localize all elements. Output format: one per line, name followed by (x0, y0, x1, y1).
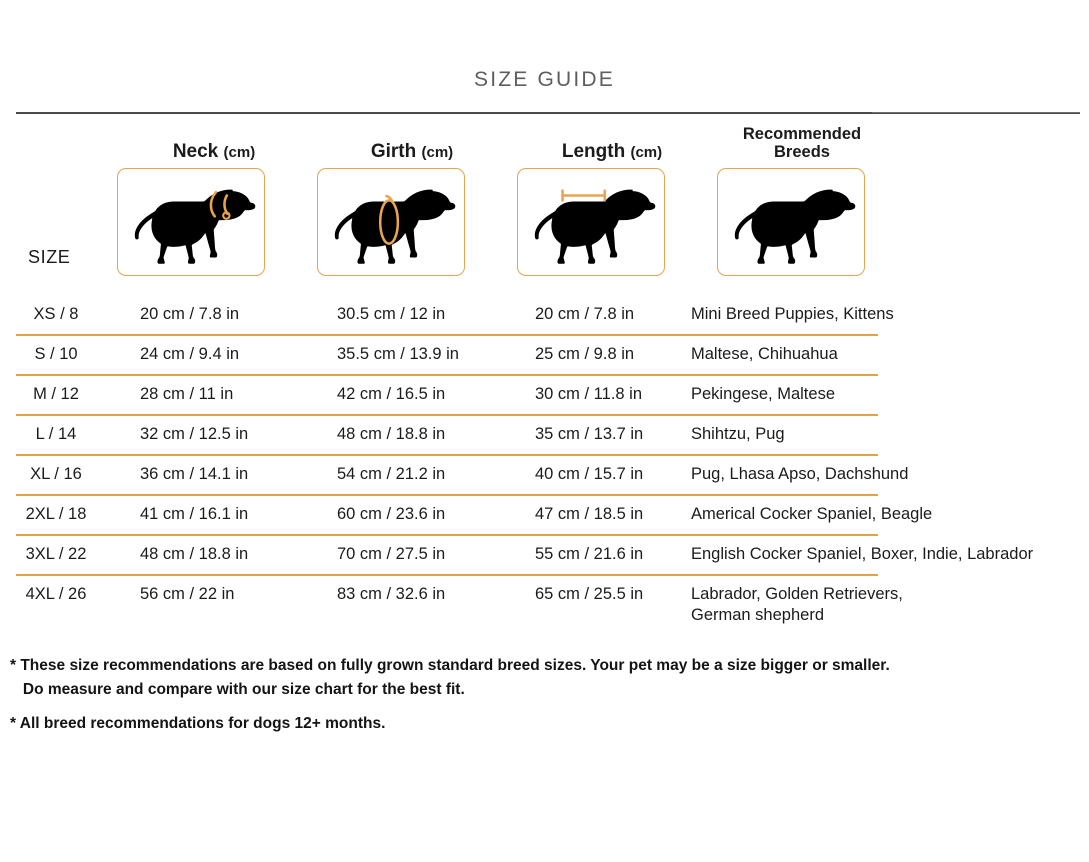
table-row: 4XL / 26 56 cm / 22 in 83 cm / 32.6 in 6… (0, 576, 1089, 616)
column-header-girth-unit: (cm) (422, 144, 454, 161)
illustration-box-girth (317, 168, 465, 276)
cell-length: 35 cm / 13.7 in (535, 424, 643, 445)
cell-size: L / 14 (0, 424, 112, 445)
cell-size: 4XL / 26 (0, 584, 112, 605)
table-row: M / 12 28 cm / 11 in 42 cm / 16.5 in 30 … (0, 376, 1089, 416)
table-row: XL / 16 36 cm / 14.1 in 54 cm / 21.2 in … (0, 456, 1089, 496)
cell-neck: 20 cm / 7.8 in (140, 304, 239, 325)
footnote-line-2: Do measure and compare with our size cha… (10, 678, 1010, 702)
cell-length: 65 cm / 25.5 in (535, 584, 643, 605)
column-header-neck-unit: (cm) (224, 144, 256, 161)
column-header-length: Length (cm) (538, 141, 686, 162)
column-header-breeds-line2: Breeds (722, 143, 882, 161)
cell-girth: 35.5 cm / 13.9 in (337, 344, 459, 365)
cell-girth: 60 cm / 23.6 in (337, 504, 445, 525)
column-header-length-unit: (cm) (630, 144, 662, 161)
cell-length: 55 cm / 21.6 in (535, 544, 643, 565)
cell-length: 30 cm / 11.8 in (535, 384, 642, 405)
dog-plain-illustration (718, 169, 864, 275)
column-header-girth: Girth (cm) (338, 141, 486, 162)
cell-neck: 56 cm / 22 in (140, 584, 234, 605)
column-header-recommended-breeds: Recommended Breeds (722, 125, 882, 162)
cell-neck: 32 cm / 12.5 in (140, 424, 248, 445)
cell-girth: 30.5 cm / 12 in (337, 304, 445, 325)
cell-breeds: Pug, Lhasa Apso, Dachshund (691, 464, 908, 485)
cell-neck: 28 cm / 11 in (140, 384, 233, 405)
cell-breeds: Maltese, Chihuahua (691, 344, 838, 365)
cell-girth: 42 cm / 16.5 in (337, 384, 445, 405)
length-measure-arrow-icon (563, 191, 605, 201)
column-header-neck: Neck (cm) (140, 141, 288, 162)
cell-size: S / 10 (0, 344, 112, 365)
column-header-length-name: Length (562, 141, 625, 162)
cell-breeds: Pekingese, Maltese (691, 384, 835, 405)
dog-silhouette-icon (535, 190, 655, 264)
cell-length: 25 cm / 9.8 in (535, 344, 634, 365)
table-row: XS / 8 20 cm / 7.8 in 30.5 cm / 12 in 20… (0, 296, 1089, 336)
cell-breeds: Labrador, Golden Retrievers, German shep… (691, 584, 903, 625)
table-row: 3XL / 22 48 cm / 18.8 in 70 cm / 27.5 in… (0, 536, 1089, 576)
cell-girth: 70 cm / 27.5 in (337, 544, 445, 565)
cell-neck: 41 cm / 16.1 in (140, 504, 248, 525)
footnote-line-3: * All breed recommendations for dogs 12+… (10, 712, 1010, 736)
cell-neck: 48 cm / 18.8 in (140, 544, 248, 565)
column-header-girth-name: Girth (371, 141, 416, 162)
cell-size: XS / 8 (0, 304, 112, 325)
cell-length: 47 cm / 18.5 in (535, 504, 643, 525)
cell-girth: 83 cm / 32.6 in (337, 584, 445, 605)
table-row: 2XL / 18 41 cm / 16.1 in 60 cm / 23.6 in… (0, 496, 1089, 536)
cell-length: 20 cm / 7.8 in (535, 304, 634, 325)
cell-breeds: Mini Breed Puppies, Kittens (691, 304, 894, 325)
dog-silhouette-icon (335, 190, 455, 264)
illustration-box-length (517, 168, 665, 276)
cell-breeds: Americal Cocker Spaniel, Beagle (691, 504, 932, 525)
size-table: XS / 8 20 cm / 7.8 in 30.5 cm / 12 in 20… (0, 296, 1089, 616)
dog-silhouette-icon (135, 190, 255, 264)
cell-neck: 24 cm / 9.4 in (140, 344, 239, 365)
illustration-box-neck (117, 168, 265, 276)
cell-neck: 36 cm / 14.1 in (140, 464, 248, 485)
cell-size: XL / 16 (0, 464, 112, 485)
cell-breeds: English Cocker Spaniel, Boxer, Indie, La… (691, 544, 1033, 565)
cell-size: M / 12 (0, 384, 112, 405)
illustration-box-breeds (717, 168, 865, 276)
dog-neck-measure-illustration (118, 169, 264, 275)
footnotes: * These size recommendations are based o… (10, 654, 1010, 736)
footnote-line-1: * These size recommendations are based o… (10, 654, 1010, 678)
cell-size: 3XL / 22 (0, 544, 112, 565)
column-header-neck-name: Neck (173, 141, 218, 162)
page-title: SIZE GUIDE (0, 68, 1089, 92)
cell-girth: 54 cm / 21.2 in (337, 464, 445, 485)
cell-length: 40 cm / 15.7 in (535, 464, 643, 485)
header-divider-thin (872, 112, 1080, 113)
dog-silhouette-icon (735, 190, 855, 264)
table-row: L / 14 32 cm / 12.5 in 48 cm / 18.8 in 3… (0, 416, 1089, 456)
dog-length-measure-illustration (518, 169, 664, 275)
cell-breeds: Shihtzu, Pug (691, 424, 785, 445)
table-row: S / 10 24 cm / 9.4 in 35.5 cm / 13.9 in … (0, 336, 1089, 376)
dog-girth-measure-illustration (318, 169, 464, 275)
column-header-breeds-line1: Recommended (722, 125, 882, 143)
cell-girth: 48 cm / 18.8 in (337, 424, 445, 445)
cell-size: 2XL / 18 (0, 504, 112, 525)
size-column-label: SIZE (28, 247, 70, 268)
